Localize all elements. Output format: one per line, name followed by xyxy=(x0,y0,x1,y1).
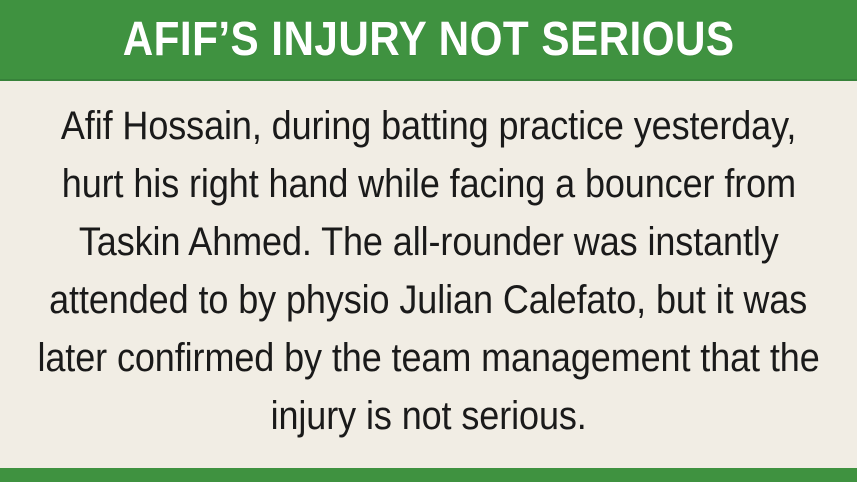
body-line-2: hurt his right hand while facing a bounc… xyxy=(61,155,795,213)
headline-band: AFIF’S INJURY NOT SERIOUS xyxy=(0,0,857,81)
body-line-4: attended to by physio Julian Calefato, b… xyxy=(49,271,807,329)
footer-band xyxy=(0,468,857,482)
body-line-5: later confirmed by the team management t… xyxy=(37,329,819,387)
body-line-1: Afif Hossain, during batting practice ye… xyxy=(61,97,796,155)
body-line-6: injury is not serious. xyxy=(270,387,586,445)
body-line-3: Taskin Ahmed. The all-rounder was instan… xyxy=(79,213,779,271)
body-text-block: Afif Hossain, during batting practice ye… xyxy=(0,81,857,468)
news-infographic-card: AFIF’S INJURY NOT SERIOUS Afif Hossain, … xyxy=(0,0,857,482)
page-title: AFIF’S INJURY NOT SERIOUS xyxy=(114,14,743,66)
